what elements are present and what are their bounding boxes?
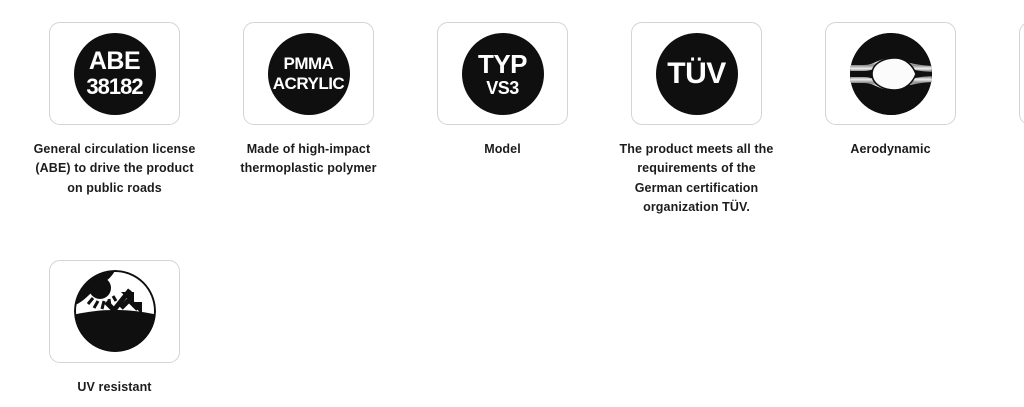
badge-card-pmma: PMMA ACRYLIC (243, 22, 374, 125)
feature-caption-round-edge: Round Edge (1003, 140, 1024, 159)
feature-caption-aerodynamic: Aerodynamic (809, 140, 972, 159)
feature-item-abe: ABE 38182 General circulation license (A… (33, 0, 196, 198)
feature-item-pmma: PMMA ACRYLIC Made of high-impact thermop… (227, 0, 390, 179)
badge-card-tuv: TÜV (631, 22, 762, 125)
tuv-certification-icon: TÜV (656, 33, 738, 115)
feature-item-aerodynamic: Aerodynamic (809, 0, 972, 159)
badge-card-abe: ABE 38182 (49, 22, 180, 125)
feature-item-uv-resistant: UV resistant (33, 238, 196, 397)
feature-item-round-edge: Round Edge (1003, 0, 1024, 159)
feature-caption-abe: General circulation license (ABE) to dri… (33, 140, 196, 198)
aerodynamic-airfoil-icon (850, 33, 932, 115)
model-badge-line-2: VS3 (486, 79, 519, 97)
model-typ-icon: TYP VS3 (462, 33, 544, 115)
feature-badge-grid: ABE 38182 General circulation license (A… (0, 0, 1024, 397)
badge-card-model: TYP VS3 (437, 22, 568, 125)
feature-item-model: TYP VS3 Model (421, 0, 584, 159)
pmma-badge-line-2: ACRYLIC (273, 75, 344, 92)
feature-caption-pmma: Made of high-impact thermoplastic polyme… (227, 140, 390, 179)
tuv-badge-line-1: TÜV (667, 59, 726, 89)
pmma-acrylic-icon: PMMA ACRYLIC (268, 33, 350, 115)
uv-resistant-sun-icon (74, 270, 156, 352)
feature-row-2: UV resistant (0, 238, 1024, 397)
abe-certification-icon: ABE 38182 (74, 33, 156, 115)
badge-card-uv-resistant (49, 260, 180, 363)
badge-card-aerodynamic (825, 22, 956, 125)
abe-badge-line-2: 38182 (86, 76, 142, 98)
abe-badge-line-1: ABE (89, 49, 140, 74)
pmma-badge-line-1: PMMA (284, 55, 334, 72)
feature-caption-tuv: The product meets all the requirements o… (615, 140, 778, 218)
feature-caption-model: Model (421, 140, 584, 159)
feature-caption-uv-resistant: UV resistant (33, 378, 196, 397)
model-badge-line-1: TYP (478, 51, 527, 77)
badge-card-round-edge (1019, 22, 1024, 125)
feature-item-tuv: TÜV The product meets all the requiremen… (615, 0, 778, 218)
feature-row-1: ABE 38182 General circulation license (A… (0, 0, 1024, 218)
